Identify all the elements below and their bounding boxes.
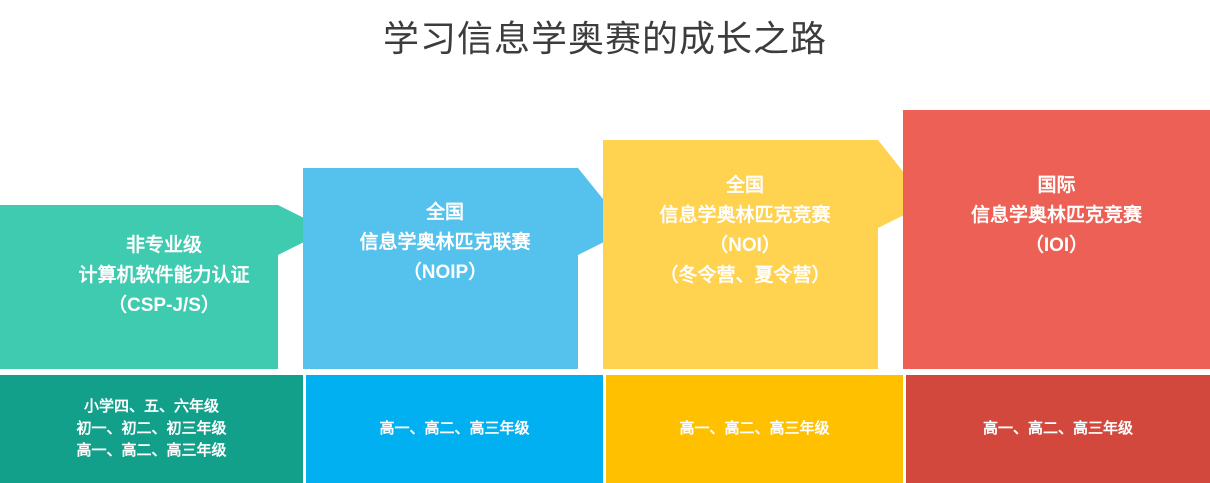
grade-bar-label-noip: 高一、高二、高三年级: [379, 418, 529, 440]
grade-bar-noi[interactable]: 高一、高二、高三年级: [606, 375, 903, 483]
stage-label-noi: 全国 信息学奥林匹克竞赛 （NOI） （冬令营、夏令营）: [581, 171, 909, 291]
growth-path-diagram: 学习信息学奥赛的成长之路 非专业级 计算机软件能力认证 （CSP-J/S） 全国…: [0, 0, 1210, 483]
grade-bar-csp[interactable]: 小学四、五、六年级 初一、初二、初三年级 高一、高二、高三年级: [0, 375, 303, 483]
page-title: 学习信息学奥赛的成长之路: [0, 16, 1210, 62]
stage-block-noi[interactable]: 全国 信息学奥林匹克竞赛 （NOI） （冬令营、夏令营）: [603, 140, 931, 369]
stage-label-csp: 非专业级 计算机软件能力认证 （CSP-J/S）: [0, 231, 328, 321]
grade-bar-ioi[interactable]: 高一、高二、高三年级: [906, 375, 1210, 483]
grade-bar-label-noi: 高一、高二、高三年级: [679, 418, 829, 440]
grade-bar-noip[interactable]: 高一、高二、高三年级: [306, 375, 603, 483]
stage-label-ioi: 国际 信息学奥林匹克竞赛 （IOI）: [903, 171, 1210, 261]
stage-block-csp[interactable]: 非专业级 计算机软件能力认证 （CSP-J/S）: [0, 205, 328, 369]
grade-bar-label-csp: 小学四、五、六年级 初一、初二、初三年级 高一、高二、高三年级: [76, 396, 226, 462]
stage-label-noip: 全国 信息学奥林匹克联赛 （NOIP）: [281, 198, 609, 288]
grade-bar-label-ioi: 高一、高二、高三年级: [983, 418, 1133, 440]
stage-block-ioi[interactable]: 国际 信息学奥林匹克竞赛 （IOI）: [903, 110, 1210, 369]
